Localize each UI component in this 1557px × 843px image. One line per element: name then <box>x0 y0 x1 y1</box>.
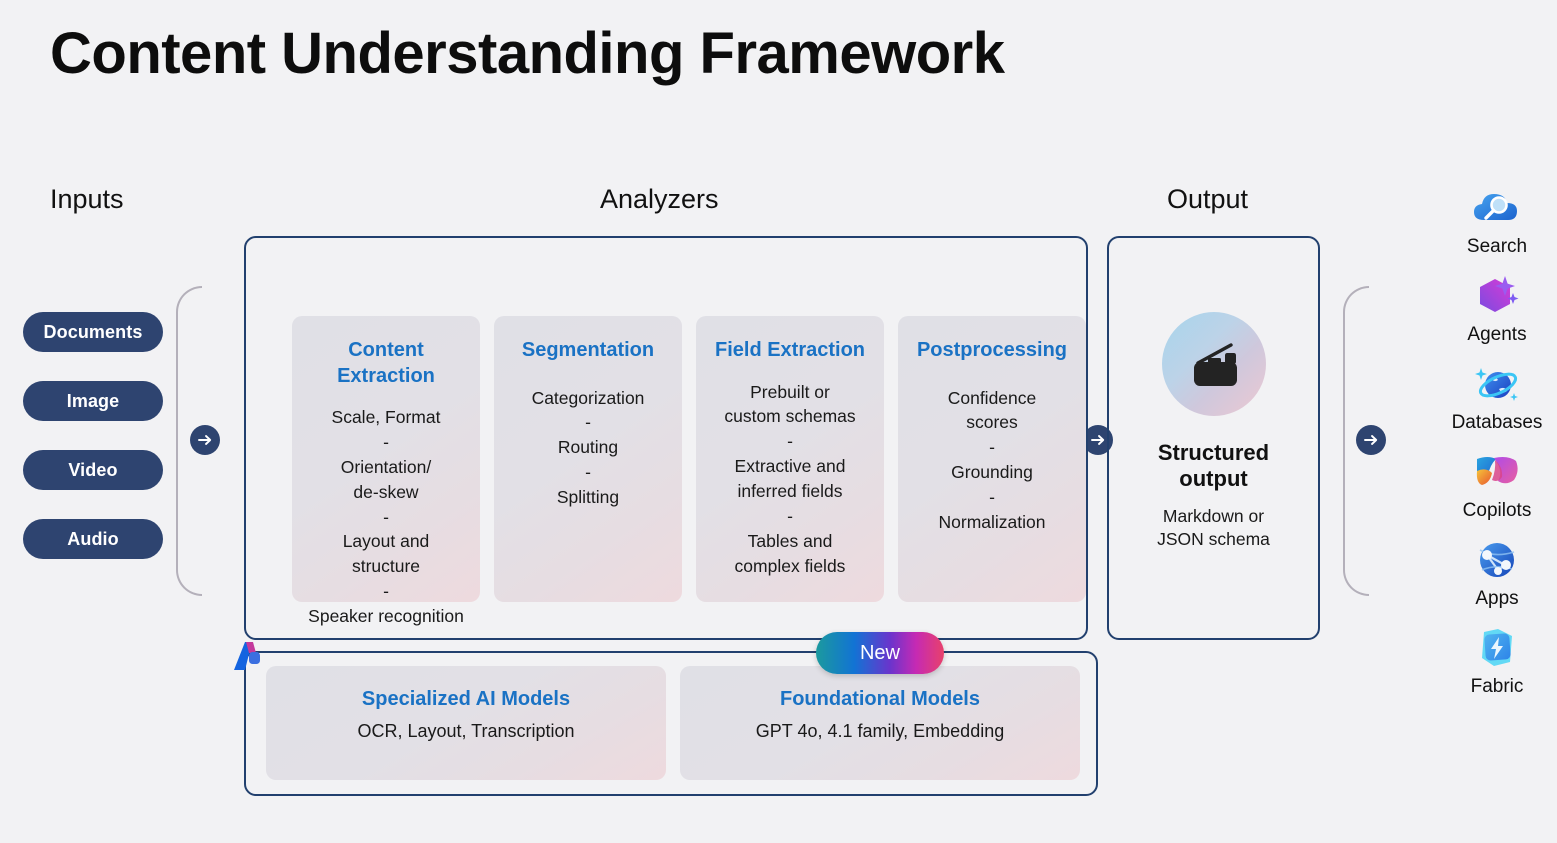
structured-output-card[interactable]: Structured output Markdown or JSON schem… <box>1107 236 1320 640</box>
card-body: Categorization - Routing - Splitting <box>532 386 645 510</box>
input-pill-documents[interactable]: Documents <box>23 312 163 352</box>
analyzer-cards: Content Extraction Scale, Format - Orien… <box>292 316 1086 602</box>
model-card-specialized-ai-models[interactable]: Specialized AI Models OCR, Layout, Trans… <box>266 666 666 780</box>
analyzer-card-postprocessing[interactable]: Postprocessing Confidence scores - Groun… <box>898 316 1086 602</box>
destination-search[interactable]: Search <box>1437 182 1557 258</box>
diagram-canvas: Content Understanding Framework Inputs A… <box>0 0 1557 843</box>
card-title: Content Extraction <box>302 338 470 389</box>
arrow-inputs-to-analyzers-icon <box>190 425 220 455</box>
destination-fabric[interactable]: Fabric <box>1437 622 1557 698</box>
destination-label: Agents <box>1467 324 1526 346</box>
destination-label: Fabric <box>1471 676 1524 698</box>
output-title: Structured output <box>1158 440 1269 493</box>
hexagon-sparkle-icon <box>1469 270 1525 322</box>
destination-label: Copilots <box>1463 500 1532 522</box>
card-title: Segmentation <box>522 338 654 364</box>
cloud-search-icon <box>1469 182 1525 234</box>
card-title: Field Extraction <box>715 338 865 364</box>
destination-databases[interactable]: Databases <box>1437 358 1557 434</box>
models-cards: Specialized AI Models OCR, Layout, Trans… <box>266 666 1080 780</box>
inputs-group: Documents Image Video Audio <box>23 312 163 559</box>
card-subtitle: OCR, Layout, Transcription <box>357 721 574 742</box>
section-label-output: Output <box>1167 184 1248 215</box>
destination-label: Databases <box>1452 412 1543 434</box>
globe-orbit-icon <box>1469 358 1525 410</box>
input-pill-audio[interactable]: Audio <box>23 519 163 559</box>
card-title: Specialized AI Models <box>362 688 570 711</box>
card-body: Scale, Format - Orientation/ de-skew - L… <box>308 405 464 629</box>
card-body: Prebuilt or custom schemas - Extractive … <box>724 380 855 579</box>
section-label-analyzers: Analyzers <box>600 184 719 215</box>
azure-ai-foundry-logo <box>232 640 266 678</box>
destination-label: Apps <box>1475 588 1518 610</box>
card-subtitle: GPT 4o, 4.1 family, Embedding <box>756 721 1004 742</box>
page-title: Content Understanding Framework <box>50 20 1004 87</box>
destination-copilots[interactable]: Copilots <box>1437 446 1557 522</box>
destination-agents[interactable]: Agents <box>1437 270 1557 346</box>
analyzer-card-segmentation[interactable]: Segmentation Categorization - Routing - … <box>494 316 682 602</box>
card-title: Foundational Models <box>780 688 980 711</box>
model-card-foundational-models[interactable]: Foundational Models GPT 4o, 4.1 family, … <box>680 666 1080 780</box>
card-title: Postprocessing <box>917 338 1067 364</box>
section-label-inputs: Inputs <box>50 184 124 215</box>
destination-apps[interactable]: Apps <box>1437 534 1557 610</box>
new-badge: New <box>816 632 944 674</box>
fabric-bolt-icon <box>1469 622 1525 674</box>
toolbox-icon <box>1162 312 1266 416</box>
input-pill-video[interactable]: Video <box>23 450 163 490</box>
input-pill-image[interactable]: Image <box>23 381 163 421</box>
copilot-ribbon-icon <box>1469 446 1525 498</box>
analyzer-card-content-extraction[interactable]: Content Extraction Scale, Format - Orien… <box>292 316 480 602</box>
destination-label: Search <box>1467 236 1527 258</box>
network-globe-icon <box>1469 534 1525 586</box>
output-subtitle: Markdown or JSON schema <box>1157 505 1270 552</box>
analyzer-card-field-extraction[interactable]: Field Extraction Prebuilt or custom sche… <box>696 316 884 602</box>
card-body: Confidence scores - Grounding - Normaliz… <box>939 386 1046 535</box>
arrow-output-to-destinations-icon <box>1356 425 1386 455</box>
destinations-rail: Search Agents <box>1437 182 1557 710</box>
